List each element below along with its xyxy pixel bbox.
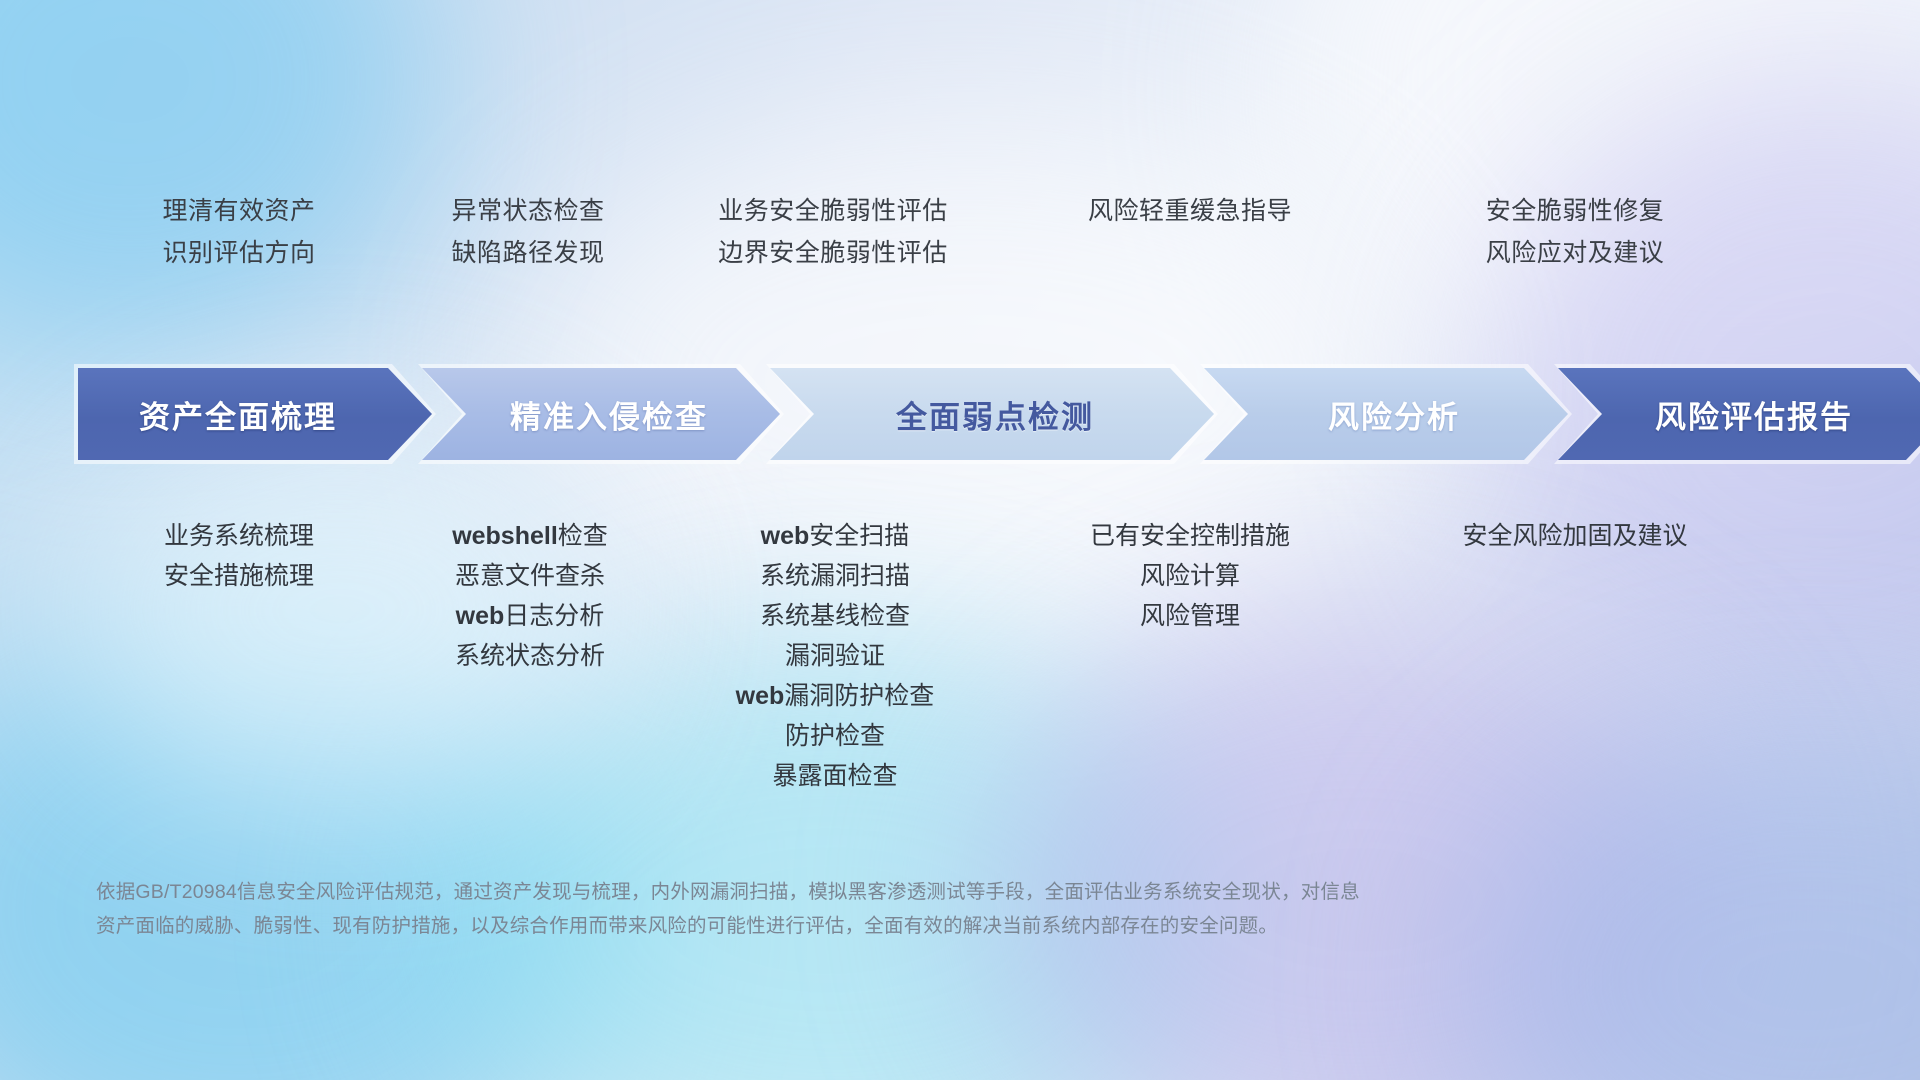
list-item-text: 检查 — [558, 522, 608, 550]
top-label: 风险应对及建议 — [1400, 232, 1750, 274]
top-labels-weakness-detection: 业务安全脆弱性评估 边界安全脆弱性评估 — [638, 190, 1028, 274]
chevron-stage-asset-sorting[interactable]: 资产全面梳理 — [78, 368, 432, 460]
list-item: webshell检查 — [380, 516, 680, 556]
list-item-prefix: web — [736, 682, 785, 710]
chevron-label: 资产全面梳理 — [78, 392, 432, 437]
list-item: web安全扫描 — [655, 516, 1015, 556]
top-label: 安全脆弱性修复 — [1400, 190, 1750, 232]
top-labels-risk-report: 安全脆弱性修复 风险应对及建议 — [1400, 190, 1750, 274]
list-item-text: 安全扫描 — [809, 522, 909, 550]
process-chevron-band: 资产全面梳理 精准入侵检查 全面弱点检测 风险分析 风险评估报告 — [78, 368, 1846, 460]
list-item: 防护检查 — [655, 716, 1015, 756]
list-item: web日志分析 — [380, 596, 680, 636]
footer-line: 资产面临的威胁、脆弱性、现有防护措施，以及综合作用而带来风险的可能性进行评估，全… — [96, 909, 1736, 943]
list-item-text: 日志分析 — [504, 602, 604, 630]
top-labels-intrusion-check: 异常状态检查 缺陷路径发现 — [388, 190, 668, 274]
list-item-text: 暴露面检查 — [772, 762, 897, 790]
list-item-prefix: web — [761, 522, 810, 550]
list-item: 系统漏洞扫描 — [655, 556, 1015, 596]
bottom-list-weakness-detection: web安全扫描 系统漏洞扫描 系统基线检查 漏洞验证 web漏洞防护检查 防护检… — [655, 516, 1015, 796]
list-item: 风险计算 — [1000, 556, 1380, 596]
top-label: 风险轻重缓急指导 — [1000, 190, 1380, 232]
list-item-text: 系统基线检查 — [760, 602, 910, 630]
list-item-prefix: web — [456, 602, 505, 630]
list-item: 业务系统梳理 — [78, 516, 400, 556]
list-item-text: 漏洞验证 — [785, 642, 885, 670]
chevron-stage-intrusion-check[interactable]: 精准入侵检查 — [422, 368, 780, 460]
list-item: 暴露面检查 — [655, 756, 1015, 796]
chevron-label: 风险评估报告 — [1558, 392, 1920, 437]
top-label: 边界安全脆弱性评估 — [638, 232, 1028, 274]
list-item-text: 恶意文件查杀 — [455, 562, 605, 590]
list-item-text: 系统状态分析 — [455, 642, 605, 670]
chevron-stage-risk-analysis[interactable]: 风险分析 — [1204, 368, 1568, 460]
bottom-list-risk-report: 安全风险加固及建议 — [1400, 516, 1750, 556]
top-label: 理清有效资产 — [78, 190, 400, 232]
top-labels-asset-sorting: 理清有效资产 识别评估方向 — [78, 190, 400, 274]
bottom-list-risk-analysis: 已有安全控制措施 风险计算 风险管理 — [1000, 516, 1380, 636]
top-label: 缺陷路径发现 — [388, 232, 668, 274]
chevron-label: 精准入侵检查 — [422, 392, 780, 437]
list-item-text: 防护检查 — [785, 722, 885, 750]
list-item: 已有安全控制措施 — [1000, 516, 1380, 556]
list-item: 安全风险加固及建议 — [1400, 516, 1750, 556]
list-item-text: 漏洞防护检查 — [784, 682, 934, 710]
chevron-label: 风险分析 — [1204, 392, 1568, 437]
top-label: 识别评估方向 — [78, 232, 400, 274]
footer-line: 依据GB/T20984信息安全风险评估规范，通过资产发现与梳理，内外网漏洞扫描，… — [96, 875, 1736, 909]
process-diagram: 理清有效资产 识别评估方向 异常状态检查 缺陷路径发现 业务安全脆弱性评估 边界… — [0, 0, 1920, 1080]
list-item: web漏洞防护检查 — [655, 676, 1015, 716]
bottom-list-asset-sorting: 业务系统梳理 安全措施梳理 — [78, 516, 400, 596]
list-item: 安全措施梳理 — [78, 556, 400, 596]
footer-description: 依据GB/T20984信息安全风险评估规范，通过资产发现与梳理，内外网漏洞扫描，… — [96, 875, 1736, 943]
chevron-label: 全面弱点检测 — [770, 392, 1214, 437]
bottom-list-intrusion-check: webshell检查 恶意文件查杀 web日志分析 系统状态分析 — [380, 516, 680, 676]
top-labels-risk-analysis: 风险轻重缓急指导 — [1000, 190, 1380, 232]
list-item-prefix: webshell — [452, 522, 558, 550]
top-label: 异常状态检查 — [388, 190, 668, 232]
list-item: 系统状态分析 — [380, 636, 680, 676]
chevron-stage-weakness-detection[interactable]: 全面弱点检测 — [770, 368, 1214, 460]
chevron-stage-risk-report[interactable]: 风险评估报告 — [1558, 368, 1920, 460]
list-item: 漏洞验证 — [655, 636, 1015, 676]
list-item: 恶意文件查杀 — [380, 556, 680, 596]
list-item-text: 系统漏洞扫描 — [760, 562, 910, 590]
list-item: 风险管理 — [1000, 596, 1380, 636]
top-label: 业务安全脆弱性评估 — [638, 190, 1028, 232]
list-item: 系统基线检查 — [655, 596, 1015, 636]
